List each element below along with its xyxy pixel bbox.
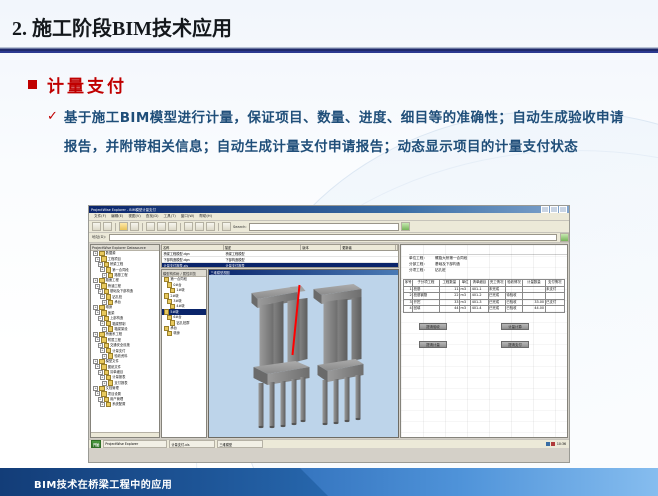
delete-button-icon[interactable] [184,222,193,231]
tree-node-label: 验收资料 [114,354,127,358]
request-acceptance-button[interactable]: 提请验收 [419,323,447,330]
measurement-table-header-row: 序号 子分项工程 工程数量 单位 清单细目 完工情况 验收情况 计量数量 支付情… [404,280,565,287]
sub-tree-node-label: 2#墩 [170,294,178,298]
list-view-button-icon[interactable] [206,222,215,231]
grid-cell-description: 桥梁工程模型 [224,251,302,256]
maximize-button-icon[interactable] [550,206,558,213]
tree-node-label: 盖梁 [108,311,115,315]
cell-payment [545,306,564,313]
menu-item-file[interactable]: 文件(F) [94,214,106,219]
tree-node-label: 承台 [114,300,121,304]
cell-measured: 44.00 [523,306,545,313]
tree-node-label: 箱梁预制 [112,322,125,326]
bullet-heading-row: 计量支付 [28,72,127,97]
grid-cell-description: 计量支付报表 [224,263,302,268]
folder-icon [106,402,111,407]
table-row[interactable]: 计量支付报表.xls计量支付报表 [162,263,398,268]
slide-title-area: 2. 施工阶段BIM技术应用 [0,0,658,56]
sub-tree-node-label: 4#墩 [176,304,184,308]
cell-unit: m3 [460,306,471,313]
menu-item-find[interactable]: 查找(D) [146,214,159,219]
tree-node-label: 箱梁架设 [114,327,127,331]
app-titlebar: ProjectWise Explorer - BIM模型计量支付 [89,206,569,213]
menu-item-tools[interactable]: 工具(T) [164,214,176,219]
app-address-bar[interactable]: 地址(D): [89,233,569,243]
slide-root: 2. 施工阶段BIM技术应用 计量支付 ✓ 基于施工BIM模型进行计量，保证项目… [0,0,658,496]
app-body: ProjectWise Explorer Datasource +数据源+工程项… [89,243,569,439]
expand-toggle-icon[interactable]: + [95,337,100,342]
tree-node-label: 支付报表 [114,381,127,385]
paste-button-icon[interactable] [168,222,177,231]
system-tray[interactable]: 10:36 [546,441,567,447]
report-meta-row-subitem: 分项工程： 钻孔桩 [409,267,567,273]
tree-node-label: 清单细目 [110,370,123,374]
document-grid-rows[interactable]: 桥梁工程模型.dgn桥梁工程模型下部构造模型.dgn下部构造模型计量支付报表.x… [161,250,399,268]
tree-node-label: 项目设置 [108,392,121,396]
expand-toggle-icon[interactable]: + [95,391,100,396]
sub-tree-node-label: 3#墩 [173,299,181,303]
clock-icon[interactable]: 10:36 [556,441,567,447]
volume-icon[interactable] [551,442,555,446]
request-payment-button[interactable]: 提请支付 [501,341,529,348]
tree-node-label: 附属工程 [108,338,121,342]
cell-no: 4 [404,306,413,313]
back-button-icon[interactable] [92,222,101,231]
tree-node-label: 基础及下部构造 [110,289,133,293]
menu-item-help[interactable]: 帮助(H) [199,214,212,219]
expand-toggle-icon[interactable]: + [100,267,105,272]
subitem-project-label: 分项工程： [409,267,435,273]
tree-node-label: 用户管理 [110,397,123,401]
menu-item-window[interactable]: 窗口(W) [181,214,195,219]
sub-tree-node-label: 第一合同段 [170,277,186,281]
model-viewport[interactable]: 三维模型视图 [208,269,399,438]
cell-quantity: 44 [439,306,459,313]
search-input[interactable] [249,223,399,231]
forward-button-icon[interactable] [103,222,112,231]
tree-node-label: 桥涵工程 [108,284,121,288]
report-meta-block: 单位工程： 螺旋大桥第一合同段 分部工程： 基础及下部构造 分项工程： 钻孔桩 [409,254,567,273]
tree-node-label: 系统配置 [112,402,125,406]
expand-toggle-icon[interactable]: + [100,294,105,299]
sub-tree-caption: 模型构件树 / 属性浏览 [162,270,206,277]
table-row[interactable]: 4回填44m3401-4已完成已验收44.00 [404,306,565,313]
embedded-application-screenshot: ProjectWise Explorer - BIM模型计量支付 文件(F) 编… [88,205,570,463]
request-measurement-button[interactable]: 提请计量 [419,341,447,348]
refresh-button-icon[interactable] [130,222,139,231]
tree-node-label: 数据源 [106,251,116,255]
bullet-heading-label: 计量支付 [47,72,127,97]
search-icon[interactable] [222,222,231,231]
cell-code: 401-4 [471,306,488,313]
folder-icon [108,353,113,358]
copy-button-icon[interactable] [157,222,166,231]
app-statusbar-taskbar[interactable]: 开始 ProjectWise Explorer 计量支付.xls 三维模型 10… [89,439,569,448]
close-button-icon[interactable] [559,206,567,213]
bridge-pier-3d-model [209,275,398,438]
tree-node-label: 桥梁工程 [110,262,123,266]
component-icon [170,320,175,325]
grid-cell-name: 下部构造模型.dgn [162,257,224,262]
model-component-tree[interactable]: 模型构件树 / 属性浏览 第一合同段0#台1#墩2#墩3#墩4#墩5#墩6#台钻… [161,269,207,438]
sub-tree-node[interactable]: 墩身 [162,331,206,336]
expand-toggle-icon[interactable]: + [98,343,103,348]
slide-footer: BIM技术在桥梁工程中的应用 [0,468,658,496]
tree-node-label: 桥面系工程 [106,332,122,336]
properties-button-icon[interactable] [195,222,204,231]
tree-node-label: 文档管理 [106,386,119,390]
cell-item: 回填 [413,306,439,313]
menu-item-edit[interactable]: 编辑(E) [111,214,123,219]
tree-node-label: 路面工程 [106,278,119,282]
cell-acceptance: 已验收 [505,306,522,313]
measurement-payment-report-panel[interactable]: 单位工程： 螺旋大桥第一合同段 分部工程： 基础及下部构造 分项工程： 钻孔桩 [400,244,568,438]
tree-node-list[interactable]: +数据源+工程项目+桥梁工程+第一合同段+路基工程+路面工程+桥涵工程+基础及下… [91,251,159,407]
taskbar-item-spreadsheet[interactable]: 计量支付.xls [169,440,215,448]
expand-toggle-icon[interactable]: + [95,257,100,262]
col-code: 清单细目 [471,280,488,287]
col-completion: 完工情况 [488,280,505,287]
grid-cell-name: 桥梁工程模型.dgn [162,251,224,256]
check-mark-icon: ✓ [47,104,58,130]
subitem-project-value: 钻孔桩 [435,267,446,273]
measurement-table-body[interactable]: 1桩基11m3401-1未完成未支付2桩基钢筋22m3401-2已完成待验收3开… [404,286,565,312]
sub-tree-node-label: 墩身 [173,331,180,335]
folder-icon [108,380,113,385]
up-button-icon[interactable] [119,222,128,231]
body-paragraph: 基于施工BIM模型进行计量，保证项目、数量、进度、细目等的准确性；自动生成验收申… [64,104,624,162]
expand-toggle-icon[interactable]: + [93,332,98,337]
grid-cell-name: 计量支付报表.xls [162,263,224,268]
address-go-button-icon[interactable] [560,233,569,242]
search-label: Search: [233,225,247,229]
expand-toggle-icon[interactable]: + [93,251,98,256]
tree-node-label: 图纸文件 [108,365,121,369]
address-bar-label: 地址(D): [92,235,106,240]
tree-node-label: 工程项目 [108,257,121,261]
expand-toggle-icon[interactable]: + [100,321,105,326]
app-title-text: ProjectWise Explorer - BIM模型计量支付 [91,207,156,212]
expand-toggle-icon[interactable]: + [98,316,103,321]
expand-toggle-icon[interactable]: + [95,364,100,369]
cut-button-icon[interactable] [146,222,155,231]
sub-tree-node-label: 钻孔桩群 [176,321,189,325]
datasource-tree-panel[interactable]: ProjectWise Explorer Datasource +数据源+工程项… [90,244,160,438]
expand-toggle-icon[interactable]: + [93,386,98,391]
app-toolbar[interactable]: Search: [89,221,569,233]
expand-toggle-icon[interactable]: + [95,310,100,315]
menu-item-view[interactable]: 视图(V) [128,214,140,219]
network-icon[interactable] [546,442,550,446]
expand-toggle-icon[interactable]: + [93,305,98,310]
expand-toggle-icon[interactable]: + [100,348,105,353]
square-bullet-icon [28,80,37,89]
center-column: 名称 描述 版本 更新者 文件创建时间 桥梁工程模型.dgn桥梁工程模型下部构造… [161,244,399,438]
start-button[interactable]: 开始 [91,440,101,448]
tree-node-label: 墩身 [106,305,113,309]
cell-completion: 已完成 [488,306,505,313]
tree-node[interactable]: +系统配置 [91,402,159,407]
report-action-buttons: 提请验收 计量计算 提请计量 提请支付 [401,321,567,361]
expand-toggle-icon[interactable]: + [93,278,98,283]
sub-tree-node-label: 承台 [170,326,177,330]
expand-toggle-icon[interactable]: + [100,402,105,407]
expand-toggle-icon[interactable]: + [98,397,103,402]
page-title: 2. 施工阶段BIM技术应用 [12,12,232,41]
minimize-button-icon[interactable] [541,206,549,213]
address-input[interactable] [109,234,557,241]
grid-cell-description: 下部构造模型 [224,257,302,262]
tree-horizontal-scrollbar[interactable] [91,432,159,437]
toolbar-separator [115,223,116,231]
expand-toggle-icon[interactable]: + [95,284,100,289]
expand-toggle-icon[interactable]: + [98,370,103,375]
expand-toggle-icon[interactable]: + [100,375,105,380]
footer-label: BIM技术在桥梁工程中的应用 [34,476,172,491]
taskbar-item-explorer[interactable]: ProjectWise Explorer [103,440,167,448]
title-divider-accent [0,51,658,53]
col-no: 序号 [404,280,413,287]
sub-tree-node-label: 1#墩 [176,288,184,292]
toolbar-separator-4 [218,223,219,231]
sub-tree-node-label: 0#台 [173,283,181,287]
expand-toggle-icon[interactable]: + [98,289,103,294]
app-menubar[interactable]: 文件(F) 编辑(E) 视图(V) 查找(D) 工具(T) 窗口(W) 帮助(H… [89,213,569,221]
expand-toggle-icon[interactable]: + [93,359,98,364]
tree-node-label: 路基工程 [114,273,127,277]
component-icon [170,304,175,309]
tree-node-label: 模型文件 [106,359,119,363]
lower-split-area: 模型构件树 / 属性浏览 第一合同段0#台1#墩2#墩3#墩4#墩5#墩6#台钻… [161,269,399,438]
tree-node-label: 计量支付 [112,349,125,353]
sub-tree-node-list[interactable]: 第一合同段0#台1#墩2#墩3#墩4#墩5#墩6#台钻孔桩群承台墩身 [162,277,206,336]
window-control-buttons [541,206,567,213]
sub-tree-node-label: 5#墩 [170,310,178,314]
taskbar-item-model[interactable]: 三维模型 [217,440,263,448]
tree-node-label: 上部构造 [110,316,123,320]
body-paragraph-block: ✓ 基于施工BIM模型进行计量，保证项目、数量、进度、细目等的准确性；自动生成验… [47,104,637,162]
tree-node-label: 计量报表 [112,375,125,379]
sub-tree-node-label: 6#台 [173,315,181,319]
tree-node-label: 第一合同段 [112,268,128,272]
toolbar-separator-2 [142,223,143,231]
toolbar-separator-3 [180,223,181,231]
expand-toggle-icon[interactable]: + [98,262,103,267]
tree-node-label: 交通安全设施 [110,343,130,347]
tree-node-label: 钻孔桩 [112,295,122,299]
component-icon [170,288,175,293]
go-button-icon[interactable] [401,222,410,231]
col-acceptance: 验收情况 [505,280,522,287]
component-icon [167,331,172,336]
measurement-table[interactable]: 序号 子分项工程 工程数量 单位 清单细目 完工情况 验收情况 计量数量 支付情… [403,279,565,313]
calculate-measurement-button[interactable]: 计量计算 [501,323,529,330]
